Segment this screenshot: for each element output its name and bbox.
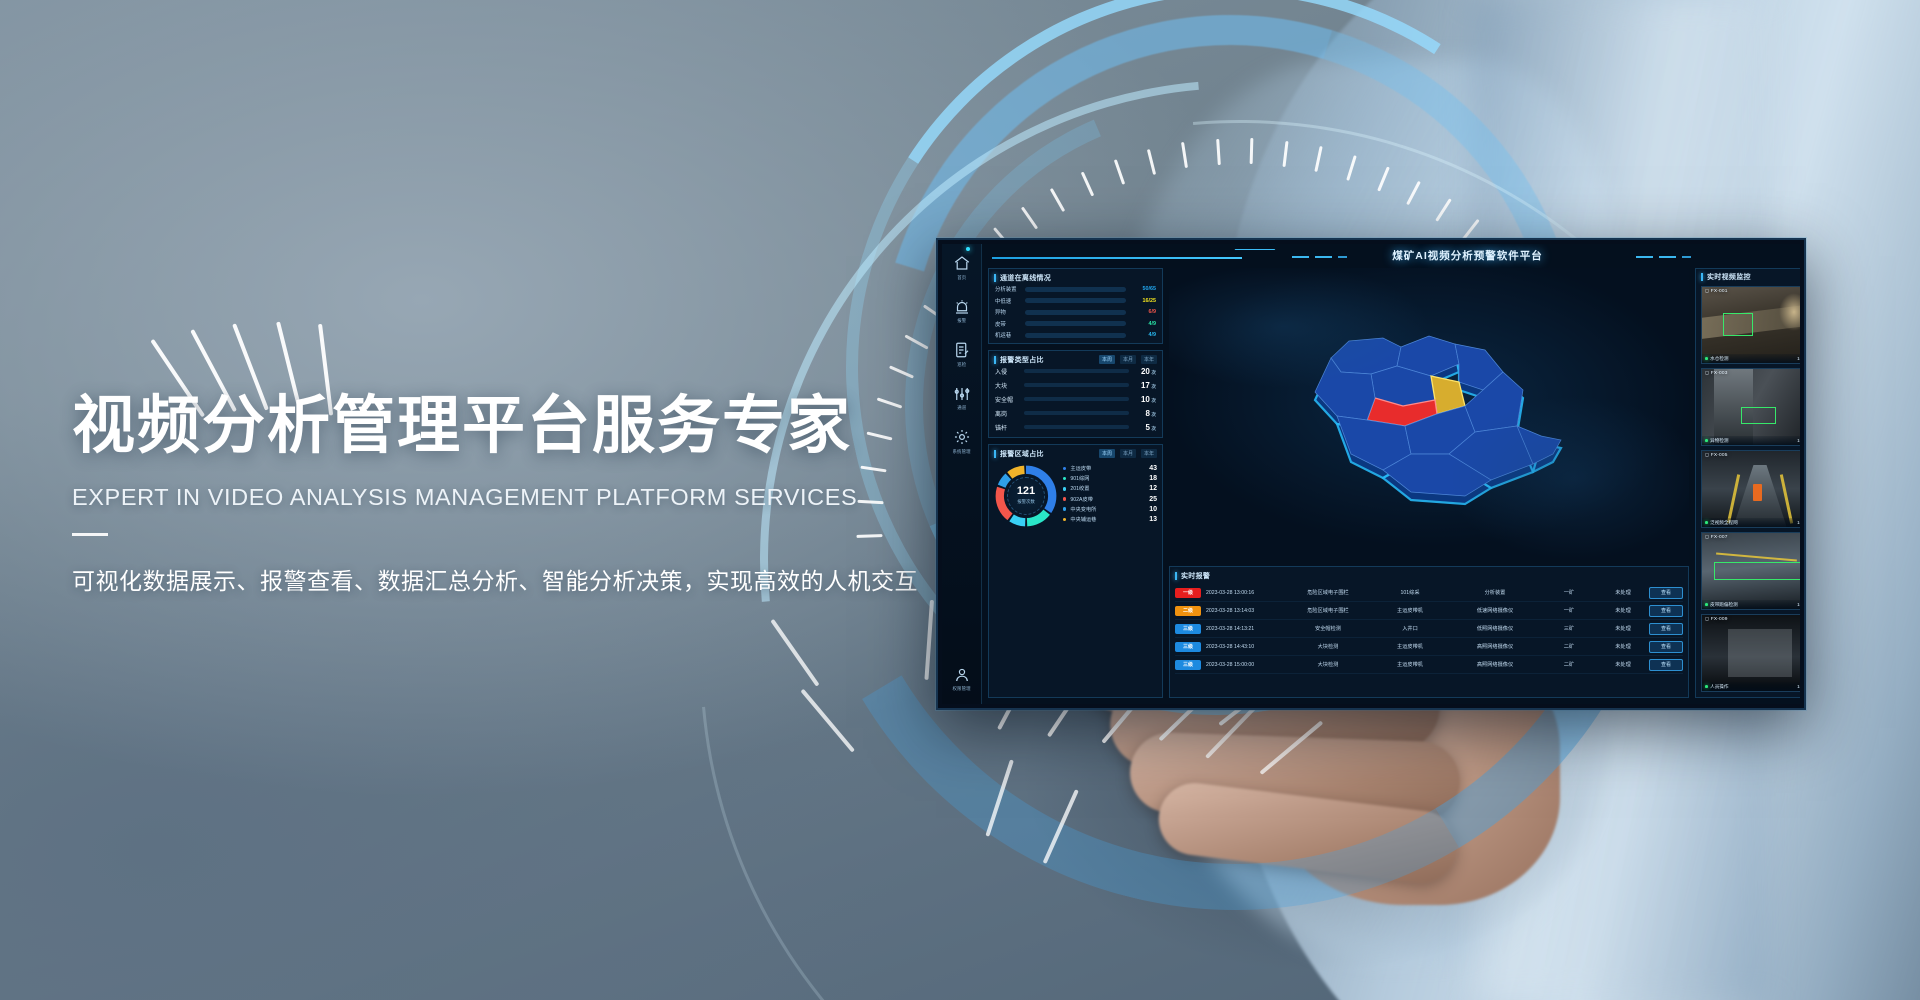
time-range-tabs[interactable]: 本周本月本年 (1099, 449, 1157, 458)
camera-tile[interactable]: ◻ FX-001水仓检测15:20:30 (1701, 286, 1800, 364)
legend-item: 主运皮带43 (1063, 465, 1157, 472)
channel-icon (953, 385, 971, 403)
detection-box (1714, 562, 1800, 580)
home-icon (953, 254, 971, 272)
legend-color-dot (1063, 467, 1066, 470)
panel-title: 实时报警 (1181, 571, 1210, 581)
table-row: 一级2023-03-28 13:00:16危险区域电子围栏101综采分析装置一矿… (1175, 584, 1683, 602)
progress-track (1025, 321, 1126, 326)
progress-track (1024, 383, 1129, 388)
legend-item: 902A皮带25 (1063, 496, 1157, 503)
hero-subtitle-en: EXPERT IN VIDEO ANALYSIS MANAGEMENT PLAT… (72, 484, 952, 511)
channel-bar-row: 异物6/9 (989, 308, 1162, 316)
alarm-type: 危险区域电子围栏 (1285, 589, 1371, 596)
alarm-type-value: 5次 (1134, 423, 1156, 432)
sidebar-item-label: 系统管理 (952, 449, 970, 455)
camera-id: ◻ FX-005 (1705, 453, 1728, 458)
alarm-area: 主运皮带机 (1371, 607, 1449, 614)
legend-item: 中央辅运巷13 (1063, 516, 1157, 523)
alarm-time: 2023-03-28 13:00:16 (1201, 590, 1285, 596)
alarm-device: 低照网络摄像仪 (1449, 625, 1541, 632)
worker-marker (1753, 484, 1762, 501)
dashboard-main: 煤矿AI视频分析预警软件平台 通道在离线情况 分析装置50/65中低速16/25… (982, 244, 1800, 704)
alarm-mine: 二矿 (1541, 661, 1597, 668)
alarm-mine: 二矿 (1541, 643, 1597, 650)
lane-marking (1716, 552, 1797, 561)
alarm-mine: 三矿 (1541, 625, 1597, 632)
dashboard-monitor: 首页报警巡检通道系统管理 权限管理 煤矿AI (936, 238, 1806, 710)
alarm-device: 高照网络摄像仪 (1449, 643, 1541, 650)
dashboard-title: 煤矿AI视频分析预警软件平台 (982, 248, 1800, 263)
table-row: 三级2023-03-28 14:13:21安全帽检测入井口低照网络摄像仪三矿未处… (1175, 620, 1683, 638)
alarm-time: 2023-03-28 14:43:10 (1201, 644, 1285, 650)
table-row: 三级2023-03-28 14:43:10大块检测主运皮带机高照网络摄像仪二矿未… (1175, 638, 1683, 656)
camera-overlay (1702, 615, 1800, 691)
donut-center: 121 报警次数 (1007, 477, 1045, 515)
channel-label: 皮带 (995, 320, 1021, 328)
legend-value: 18 (1149, 475, 1157, 482)
table-row: 三级2023-03-28 15:00:00大块检测主运皮带机高照网络摄像仪二矿未… (1175, 656, 1683, 674)
channel-value: 6/9 (1130, 309, 1156, 315)
alarm-type-label: 锚杆 (995, 423, 1019, 432)
legend-value: 12 (1149, 485, 1157, 492)
camera-name: 皮带跑偏检测 (1710, 602, 1738, 608)
online-indicator (1705, 603, 1708, 606)
tab-本年[interactable]: 本年 (1141, 355, 1157, 364)
camera-footer: 异物检测15:20:30 (1702, 436, 1800, 445)
camera-overlay (1702, 287, 1800, 363)
camera-name: 水仓检测 (1710, 356, 1728, 362)
progress-track (1024, 369, 1129, 374)
accent-bar (1701, 273, 1703, 281)
panel-header: 报警类型占比 本周本月本年 (989, 351, 1162, 367)
alarm-status: 未处理 (1597, 661, 1649, 668)
alarm-type-label: 入侵 (995, 367, 1019, 376)
sidebar-item-permissions[interactable]: 权限管理 (952, 666, 971, 693)
camera-timestamp: 15:20:30 (1797, 438, 1800, 443)
alarm-area-panel: 报警区域占比 本周本月本年 121 报警次数 主运皮带43 (988, 444, 1163, 699)
online-indicator (1705, 521, 1708, 524)
alarm-type-row: 安全帽10次 (989, 395, 1162, 404)
camera-footer: 人员操作15:20:30 (1702, 682, 1800, 691)
progress-track (1025, 298, 1126, 303)
camera-grid: ◻ FX-001水仓检测15:20:30◻ FX-002智能交通检测15:20:… (1696, 286, 1800, 697)
status-badge: 三级 (1175, 624, 1201, 634)
camera-footer: 皮带跑偏检测15:20:30 (1702, 600, 1800, 609)
alarm-area-donut-chart: 121 报警次数 (994, 464, 1058, 528)
alarm-mine: 一矿 (1541, 607, 1597, 614)
online-indicator (1705, 685, 1708, 688)
view-button[interactable]: 查看 (1649, 659, 1683, 671)
hero-subtitle-cn: 可视化数据展示、报警查看、数据汇总分析、智能分析决策，实现高效的人机交互 (72, 562, 952, 596)
tab-本周[interactable]: 本周 (1099, 449, 1115, 458)
alarm-type-value: 8次 (1134, 409, 1156, 418)
table-row: 二级2023-03-28 13:14:03危险区域电子围栏主运皮带机低速网络摄像… (1175, 602, 1683, 620)
sidebar-item-label: 报警 (957, 318, 966, 324)
legend-color-dot (1063, 497, 1066, 500)
alarm-time: 2023-03-28 15:00:00 (1201, 662, 1285, 668)
progress-track (1024, 411, 1129, 416)
detection-box (1741, 407, 1776, 424)
accent-bar (994, 274, 996, 282)
channel-bar-row: 机运巷4/9 (989, 331, 1162, 339)
camera-footer: 泛视频全程网15:20:30 (1702, 518, 1800, 527)
alarm-mine: 一矿 (1541, 589, 1597, 596)
panel-header: 实时报警 (1170, 567, 1688, 583)
channel-value: 50/65 (1130, 286, 1156, 292)
legend-item: 201绞置12 (1063, 485, 1157, 492)
legend-color-dot (1063, 518, 1066, 521)
dashboard-sidebar: 首页报警巡检通道系统管理 权限管理 (942, 244, 982, 704)
detection-box (1723, 313, 1753, 336)
camera-name: 泛视频全程网 (1710, 520, 1738, 526)
legend-item: 中央变电所10 (1063, 506, 1157, 513)
realtime-alarm-panel: 实时报警 一级2023-03-28 13:00:16危险区域电子围栏101综采分… (1169, 566, 1689, 698)
view-button[interactable]: 查看 (1649, 641, 1683, 653)
alarm-area: 101综采 (1371, 589, 1449, 596)
alarm-type-row: 锚杆5次 (989, 423, 1162, 432)
accent-bar (1175, 572, 1177, 580)
alarm-table: 一级2023-03-28 13:00:16危险区域电子围栏101综采分析装置一矿… (1170, 583, 1688, 674)
alarm-type-row: 大块17次 (989, 381, 1162, 390)
legend-label: 中央变电所 (1070, 506, 1149, 513)
sidebar-item-1[interactable]: 首页 (952, 254, 971, 281)
legend-label: 主运皮带 (1070, 465, 1149, 472)
progress-track (1025, 310, 1126, 315)
accent-bar (994, 450, 996, 458)
camera-id: ◻ FX-001 (1705, 289, 1728, 294)
left-column: 通道在离线情况 分析装置50/65中低速16/25异物6/9皮带4/9机运巷4/… (988, 268, 1163, 698)
channel-value: 16/25 (1130, 298, 1156, 304)
alarm-type-value: 20次 (1134, 367, 1156, 376)
progress-track (1024, 397, 1129, 402)
status-badge: 一级 (1175, 588, 1201, 598)
legend-label: 901综网 (1070, 475, 1149, 482)
hero-copy: 视频分析管理平台服务专家 EXPERT IN VIDEO ANALYSIS MA… (72, 390, 952, 596)
sidebar-item-2[interactable]: 报警 (952, 298, 971, 325)
status-badge: 三级 (1175, 660, 1201, 670)
legend-label: 201绞置 (1070, 485, 1149, 492)
camera-id: ◻ FX-003 (1705, 371, 1728, 376)
camera-footer: 水仓检测15:20:30 (1702, 354, 1800, 363)
unit-label: 次 (1151, 398, 1156, 403)
alarm-type-panel: 报警类型占比 本周本月本年 入侵20次大块17次安全帽10次离岗8次锚杆5次 (988, 350, 1163, 438)
channel-status-panel: 通道在离线情况 分析装置50/65中低速16/25异物6/9皮带4/9机运巷4/… (988, 268, 1163, 344)
user-icon (953, 666, 971, 684)
time-range-tabs[interactable]: 本周本月本年 (1099, 355, 1157, 364)
alarm-status: 未处理 (1597, 607, 1649, 614)
page-title: 视频分析管理平台服务专家 (72, 390, 952, 462)
tab-本月[interactable]: 本月 (1120, 355, 1136, 364)
unit-label: 次 (1151, 426, 1156, 431)
channel-value: 4/9 (1130, 332, 1156, 338)
alarm-type: 大块检测 (1285, 643, 1371, 650)
online-indicator (1705, 439, 1708, 442)
status-badge: 三级 (1175, 642, 1201, 652)
channel-bar-list: 分析装置50/65中低速16/25异物6/9皮带4/9机运巷4/9 (989, 285, 1162, 339)
donut-legend: 主运皮带43901综网18201绞置12902A皮带25中央变电所10中央辅运巷… (1058, 465, 1157, 526)
channel-bar-row: 分析装置50/65 (989, 285, 1162, 293)
alarm-type-row: 入侵20次 (989, 367, 1162, 376)
legend-value: 25 (1149, 496, 1157, 503)
lane-marking (1780, 474, 1793, 524)
status-badge: 二级 (1175, 606, 1201, 616)
alarm-type-bar-list: 入侵20次大块17次安全帽10次离岗8次锚杆5次 (989, 367, 1162, 432)
camera-tile[interactable]: ◻ FX-003异物检测15:20:30 (1701, 368, 1800, 446)
panel-header: 通道在离线情况 (989, 269, 1162, 285)
online-indicator (1705, 357, 1708, 360)
camera-overlay (1702, 451, 1800, 527)
legend-value: 43 (1149, 465, 1157, 472)
channel-label: 分析装置 (995, 285, 1021, 293)
sidebar-item-5[interactable]: 系统管理 (952, 428, 971, 455)
camera-tile[interactable]: ◻ FX-007皮带跑偏检测15:20:30 (1701, 532, 1800, 610)
map-svg (1279, 314, 1579, 514)
channel-bar-row: 中低速16/25 (989, 297, 1162, 305)
alarm-time: 2023-03-28 14:13:21 (1201, 626, 1285, 632)
progress-track (1025, 287, 1126, 292)
legend-label: 中央辅运巷 (1070, 516, 1149, 523)
view-button[interactable]: 查看 (1649, 623, 1683, 635)
panel-header: 实时视频监控 上一页 下一页 (1696, 269, 1800, 286)
alarm-device: 分析装置 (1449, 589, 1541, 596)
alarm-type-value: 17次 (1134, 381, 1156, 390)
camera-name: 人员操作 (1710, 684, 1728, 690)
alarm-status: 未处理 (1597, 643, 1649, 650)
dashboard-screen: 首页报警巡检通道系统管理 权限管理 煤矿AI (942, 244, 1800, 704)
camera-timestamp: 15:20:30 (1797, 356, 1800, 361)
unit-label: 次 (1151, 384, 1156, 389)
dashboard-topbar: 煤矿AI视频分析预警软件平台 (982, 244, 1800, 268)
unit-label: 次 (1151, 412, 1156, 417)
alarm-type-row: 离岗8次 (989, 409, 1162, 418)
progress-track (1025, 333, 1126, 338)
sidebar-item-label: 巡检 (957, 362, 966, 368)
panel-header: 报警区域占比 本周本月本年 (989, 445, 1162, 461)
alarm-type-label: 离岗 (995, 409, 1019, 418)
tab-本周[interactable]: 本周 (1099, 355, 1115, 364)
sidebar-item-3[interactable]: 巡检 (952, 341, 971, 368)
gear-icon (953, 428, 971, 446)
alarm-area: 入井口 (1371, 625, 1449, 632)
alarm-icon (953, 298, 971, 316)
sidebar-item-label: 首页 (957, 275, 966, 281)
unit-label: 次 (1151, 370, 1156, 375)
alarm-area: 主运皮带机 (1371, 643, 1449, 650)
alarm-time: 2023-03-28 13:14:03 (1201, 608, 1285, 614)
camera-timestamp: 15:20:30 (1797, 684, 1800, 689)
legend-color-dot (1063, 477, 1066, 480)
view-button[interactable]: 查看 (1649, 587, 1683, 599)
video-monitor-panel: 实时视频监控 上一页 下一页 ◻ FX-001水仓检测15:20:30◻ FX-… (1695, 268, 1800, 698)
panel-title: 实时视频监控 (1707, 272, 1751, 282)
alarm-status: 未处理 (1597, 589, 1649, 596)
camera-id: ◻ FX-009 (1705, 617, 1728, 622)
lane-marking (1727, 474, 1740, 524)
alarm-type-label: 安全帽 (995, 395, 1019, 404)
camera-timestamp: 15:20:30 (1797, 520, 1800, 525)
divider-rule (72, 533, 108, 536)
legend-color-dot (1063, 507, 1066, 510)
donut-section: 121 报警次数 主运皮带43901综网18201绞置12902A皮带25中央变… (989, 461, 1162, 528)
donut-total-label: 报警次数 (1017, 499, 1035, 505)
alarm-type-value: 10次 (1134, 395, 1156, 404)
alarm-device: 高照网络摄像仪 (1449, 661, 1541, 668)
dashboard-columns: 通道在离线情况 分析装置50/65中低速16/25异物6/9皮带4/9机运巷4/… (982, 268, 1800, 704)
alarm-area: 主运皮带机 (1371, 661, 1449, 668)
channel-bar-row: 皮带4/9 (989, 320, 1162, 328)
alarm-type: 安全帽检测 (1285, 625, 1371, 632)
region-map[interactable] (1169, 268, 1689, 560)
camera-timestamp: 15:20:30 (1797, 602, 1800, 607)
channel-label: 中低速 (995, 297, 1021, 305)
panel-title: 通道在离线情况 (1000, 273, 1051, 283)
legend-item: 901综网18 (1063, 475, 1157, 482)
alarm-type-label: 大块 (995, 381, 1019, 390)
camera-id: ◻ FX-007 (1705, 535, 1728, 540)
alarm-type: 危险区域电子围栏 (1285, 607, 1371, 614)
legend-label: 902A皮带 (1070, 496, 1149, 503)
tab-本年[interactable]: 本年 (1141, 449, 1157, 458)
panel-title: 报警类型占比 (1000, 355, 1044, 365)
sidebar-item-label: 通道 (957, 405, 966, 411)
legend-value: 10 (1149, 506, 1157, 513)
camera-tile[interactable]: ◻ FX-009人员操作15:20:30 (1701, 614, 1800, 692)
alarm-device: 低速网络摄像仪 (1449, 607, 1541, 614)
alarm-status: 未处理 (1597, 625, 1649, 632)
channel-label: 机运巷 (995, 331, 1021, 339)
inspection-icon (953, 341, 971, 359)
camera-overlay (1702, 533, 1800, 609)
camera-name: 异物检测 (1710, 438, 1728, 444)
legend-value: 13 (1149, 516, 1157, 523)
channel-value: 4/9 (1130, 321, 1156, 327)
view-button[interactable]: 查看 (1649, 605, 1683, 617)
accent-bar (994, 356, 996, 364)
camera-overlay (1702, 369, 1800, 445)
sidebar-item-label: 权限管理 (952, 686, 970, 692)
alarm-type: 大块检测 (1285, 661, 1371, 668)
camera-tile[interactable]: ◻ FX-005泛视频全程网15:20:30 (1701, 450, 1800, 528)
panel-title: 报警区域占比 (1000, 449, 1044, 459)
sidebar-item-4[interactable]: 通道 (952, 385, 971, 412)
legend-color-dot (1063, 487, 1066, 490)
progress-track (1024, 425, 1129, 430)
status-dot (966, 247, 970, 251)
channel-label: 异物 (995, 308, 1021, 316)
donut-total-value: 121 (1017, 486, 1035, 497)
center-column: 实时报警 一级2023-03-28 13:00:16危险区域电子围栏101综采分… (1169, 268, 1689, 698)
tab-本月[interactable]: 本月 (1120, 449, 1136, 458)
